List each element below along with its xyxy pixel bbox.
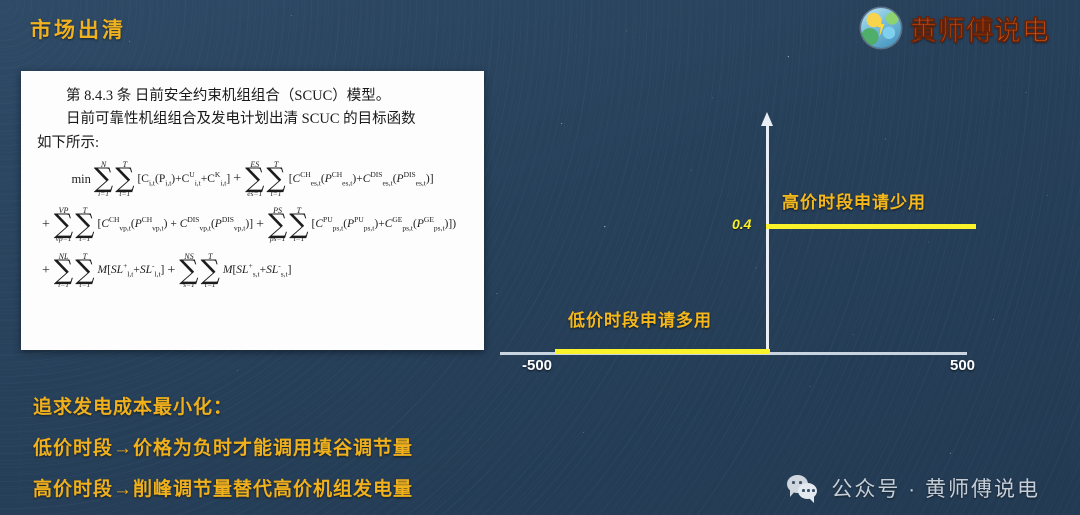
brand-logo: 黄师傅说电 [861,8,1050,48]
bullet-list: 追求发电成本最小化： 低价时段→价格为负时才能调用填谷调节量 高价时段→削峰调节… [33,392,413,515]
y-tick-label: 0.4 [732,216,751,232]
formula-term: M[SL+s,t+SL-s,t] [223,265,292,277]
plus-operator: + [42,218,50,232]
objective-function-formula: min N ∑ i=1 T ∑ t=1 [Ci,t(Pi,t)+CUi,t+CK… [37,161,468,288]
wechat-icon [787,475,821,501]
chart-y-axis [766,124,769,354]
summation-symbol: T ∑ t=1 [289,207,308,243]
brand-name: 黄师傅说电 [910,9,1050,48]
presentation-slide: 市场出清 黄师傅说电 第 8.4.3 条 日前安全约束机组组合（SCUC）模型。… [0,0,1080,515]
summation-symbol: NL ∑ l=1 [54,253,73,289]
min-label: min [71,173,90,186]
bullet-item: 低价时段→价格为负时才能调用填谷调节量 [33,433,413,460]
x-tick-label-max: 500 [950,357,975,374]
summation-symbol: T ∑ t=1 [115,161,134,197]
chart-annotation-low-price: 低价时段申请多用 [568,306,712,331]
bullet-item: 追求发电成本最小化： [33,392,413,419]
summation-symbol: PS ∑ ps=1 [268,207,287,243]
formula-term: [CPUps,t(PPUps,t)+CGEps,t(PGEps,t)]) [312,219,457,231]
y-axis-arrow-icon [761,112,773,126]
formula-row-3: + NL ∑ l=1 T ∑ t=1 M[SL+l,t+SL-l,t] + NS… [37,253,468,289]
document-panel: 第 8.4.3 条 日前安全约束机组组合（SCUC）模型。 日前可靠性机组组合及… [21,71,484,350]
doc-tail-line: 如下所示: [37,132,468,155]
step-function-chart: 0.4 -500 500 高价时段申请少用 低价时段申请多用 [500,110,1060,380]
formula-row-1: min N ∑ i=1 T ∑ t=1 [Ci,t(Pi,t)+CUi,t+CK… [37,161,468,197]
summation-symbol: T ∑ t=1 [266,161,285,197]
x-tick-label-min: -500 [522,357,552,374]
energy-circle-logo-icon [861,8,901,48]
plus-operator: + [42,264,50,278]
doc-clause-line: 第 8.4.3 条 日前安全约束机组组合（SCUC）模型。 [37,85,468,108]
summation-symbol: T ∑ t=1 [75,207,94,243]
wechat-account-label: 公众号 · 黄师傅说电 [831,473,1040,503]
formula-term: [CCHes,t(PCHes,t)+CDISes,t(PDISes,t)] [289,174,434,186]
plus-operator: + [233,172,241,186]
summation-symbol: VP ∑ vp=1 [54,207,73,243]
formula-row-2: + VP ∑ vp=1 T ∑ t=1 [CCHvp,t(PCHvp,t) + … [37,207,468,243]
summation-symbol: T ∑ t=1 [201,253,220,289]
summation-symbol: N ∑ i=1 [94,161,113,197]
formula-term: [Ci,t(Pi,t)+CUi,t+CKi,t] [137,174,230,186]
chart-annotation-high-price: 高价时段申请少用 [782,188,926,213]
bullet-item: 高价时段→削峰调节量替代高价机组发电量 [33,474,413,501]
summation-symbol: NS ∑ s=1 [179,253,198,289]
series-line-low-price [555,349,770,354]
wechat-footer: 公众号 · 黄师傅说电 [787,473,1040,503]
doc-body-line: 日前可靠性机组组合及发电计划出清 SCUC 的目标函数 [37,108,468,131]
summation-symbol: T ∑ t=1 [75,253,94,289]
formula-term: [CCHvp,t(PCHvp,t) + CDISvp,t(PDISvp,t)] [97,219,253,231]
formula-term: M[SL+l,t+SL-l,t] [97,265,164,277]
series-line-high-price [766,224,976,229]
summation-symbol: ES ∑ es=1 [245,161,264,197]
plus-operator: + [256,218,264,232]
page-title: 市场出清 [30,14,126,44]
plus-operator: + [167,264,175,278]
